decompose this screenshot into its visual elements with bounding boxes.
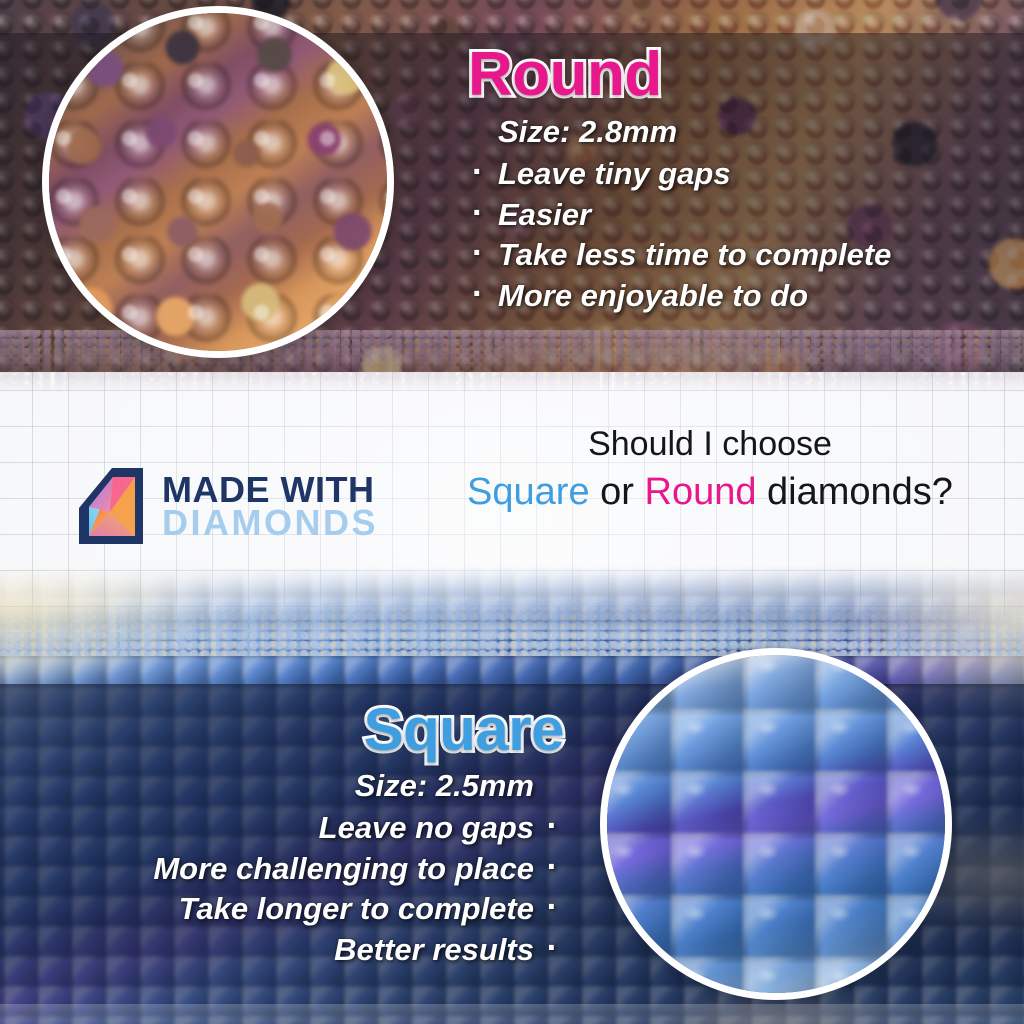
center-band: MADE WITH DIAMONDS Should I choose Squar… (0, 410, 1024, 570)
question-conjunction: or (590, 471, 645, 513)
brand-lockup: MADE WITH DIAMONDS (72, 466, 378, 546)
question-square-word: Square (467, 471, 590, 513)
round-feature-item: Leave tiny gaps (468, 154, 998, 195)
square-magnifier-lens (600, 648, 952, 1000)
square-photo-bottom-strip (0, 1004, 1024, 1024)
round-feature-item: Easier (468, 195, 998, 236)
brand-name-bottom: DIAMONDS (162, 506, 378, 539)
round-feature-list: Leave tiny gaps Easier Take less time to… (468, 154, 998, 318)
square-feature-list: Leave no gaps More challenging to place … (44, 808, 564, 972)
round-lens-gloss (42, 6, 394, 358)
round-magnifier-lens (42, 6, 394, 358)
round-title: Round (468, 44, 998, 106)
diamond-logo-icon (72, 466, 148, 546)
square-info-block: Square Size: 2.5mm Leave no gaps More ch… (44, 700, 564, 971)
brand-wordmark: MADE WITH DIAMONDS (162, 473, 378, 539)
round-feature-item: More enjoyable to do (468, 276, 998, 317)
square-title: Square (44, 700, 564, 760)
square-feature-item: Better results (44, 930, 564, 971)
question-line-2: Square or Round diamonds? (430, 469, 990, 517)
round-size-label: Size: 2.8mm (468, 112, 998, 152)
infographic-canvas: Round Size: 2.8mm Leave tiny gaps Easier… (0, 0, 1024, 1024)
square-feature-item: Leave no gaps (44, 808, 564, 849)
round-info-block: Round Size: 2.8mm Leave tiny gaps Easier… (468, 44, 998, 317)
question-tail: diamonds? (756, 471, 952, 513)
square-feature-item: More challenging to place (44, 849, 564, 890)
question-heading: Should I choose Square or Round diamonds… (430, 424, 990, 517)
square-feature-item: Take longer to complete (44, 889, 564, 930)
question-line-1: Should I choose (430, 424, 990, 465)
square-lens-gloss (600, 648, 952, 1000)
question-round-word: Round (645, 471, 757, 513)
square-size-label: Size: 2.5mm (44, 766, 564, 806)
round-feature-item: Take less time to complete (468, 235, 998, 276)
